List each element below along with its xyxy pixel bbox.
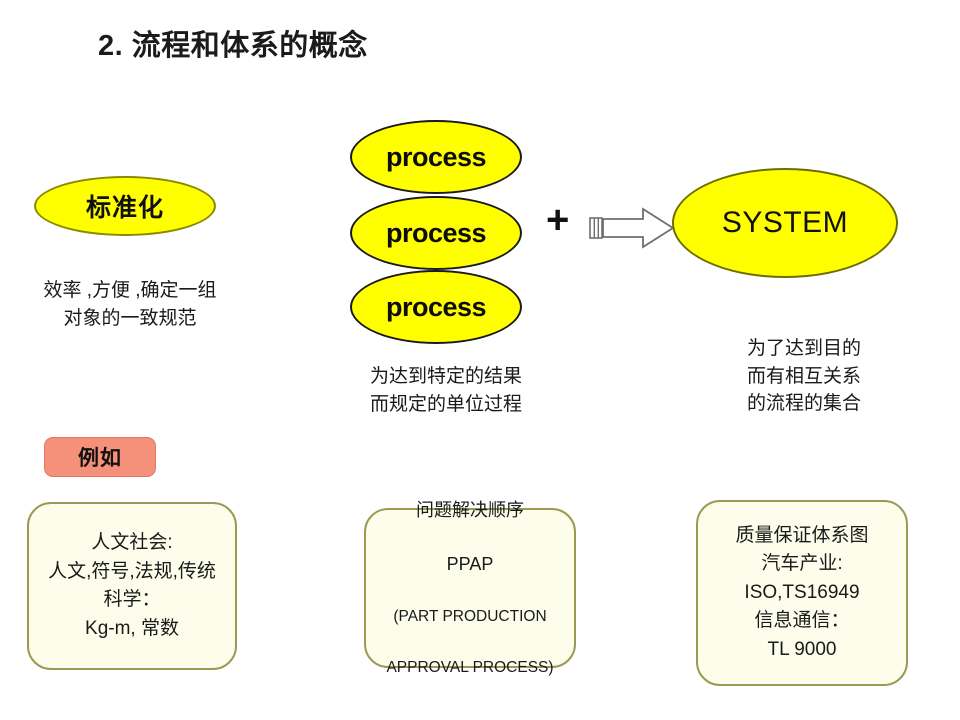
process-ellipse-2: process <box>350 196 522 270</box>
page-title: 2. 流程和体系的概念 <box>98 22 368 64</box>
process-ellipse-1: process <box>350 120 522 194</box>
system-label: SYSTEM <box>722 206 848 240</box>
plus-icon: + <box>546 200 569 240</box>
standardization-ellipse: 标准化 <box>34 176 216 236</box>
right-block-arrow-icon <box>589 206 675 250</box>
example-box-2-text: 问题解决顺序 PPAP (PART PRODUCTION APPROVAL PR… <box>386 470 553 706</box>
system-ellipse: SYSTEM <box>672 168 898 278</box>
standardization-caption: 效率 ,方便 ,确定一组 对象的一致规范 <box>10 277 250 332</box>
example-box-ppap: 问题解决顺序 PPAP (PART PRODUCTION APPROVAL PR… <box>364 508 576 668</box>
example-box-2-line-3: (PART PRODUCTION <box>386 605 553 628</box>
example-box-2-line-2: PPAP <box>386 551 553 578</box>
process-ellipse-3: process <box>350 270 522 344</box>
standardization-label: 标准化 <box>86 188 164 224</box>
example-box-3-text: 质量保证体系图 汽车产业: ISO,TS16949 信息通信： TL 9000 <box>735 522 868 665</box>
system-caption: 为了达到目的 而有相互关系 的流程的集合 <box>714 335 894 418</box>
example-badge-label: 例如 <box>78 442 122 472</box>
slide-canvas: 2. 流程和体系的概念 标准化 效率 ,方便 ,确定一组 对象的一致规范 pro… <box>0 0 960 720</box>
process-caption: 为达到特定的结果 而规定的单位过程 <box>336 363 556 418</box>
process-label-3: process <box>386 292 486 323</box>
process-label-1: process <box>386 142 486 173</box>
example-box-1-text: 人文社会: 人文,符号,法规,传统 科学： Kg-m, 常数 <box>48 529 216 643</box>
example-box-humanities-science: 人文社会: 人文,符号,法规,传统 科学： Kg-m, 常数 <box>27 502 237 670</box>
example-box-2-line-4: APPROVAL PROCESS) <box>386 656 553 679</box>
example-box-quality-assurance: 质量保证体系图 汽车产业: ISO,TS16949 信息通信： TL 9000 <box>696 500 908 686</box>
process-label-2: process <box>386 218 486 249</box>
example-badge: 例如 <box>44 437 156 477</box>
example-box-2-line-1: 问题解决顺序 <box>386 497 553 524</box>
